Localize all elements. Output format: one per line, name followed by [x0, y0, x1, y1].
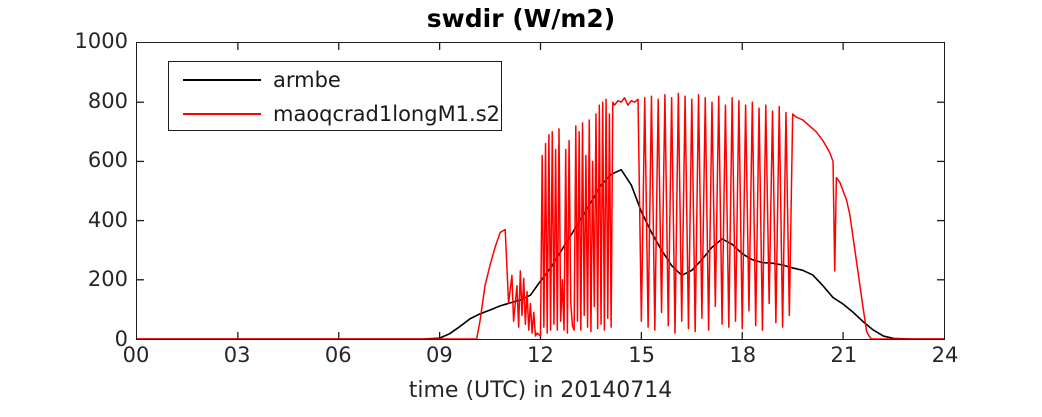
legend-label: armbe — [273, 70, 341, 91]
chart-title: swdir (W/m2) — [0, 4, 1042, 33]
legend-entry[interactable]: armbe — [169, 63, 501, 97]
x-axis-label: time (UTC) in 20140714 — [136, 378, 945, 403]
y-tick-label: 400 — [8, 210, 128, 231]
legend-line-swatch — [183, 79, 261, 81]
legend-label: maoqcrad1longM1.s2 — [273, 104, 500, 125]
x-tick-label: 12 — [501, 345, 581, 366]
legend-line-swatch — [183, 113, 261, 115]
x-tick-label: 06 — [298, 345, 378, 366]
y-tick-label: 200 — [8, 269, 128, 290]
y-tick-label: 1000 — [8, 31, 128, 52]
y-tick-label: 800 — [8, 91, 128, 112]
x-tick-label: 21 — [804, 345, 884, 366]
x-tick-label: 24 — [905, 345, 985, 366]
x-tick-label: 15 — [602, 345, 682, 366]
chart-figure: swdir (W/m2) 02004006008001000 000306091… — [0, 0, 1042, 417]
x-tick-label: 09 — [399, 345, 479, 366]
x-tick-label: 18 — [703, 345, 783, 366]
y-axis-tick-labels: 02004006008001000 — [0, 42, 128, 340]
x-axis-tick-labels: 000306091215182124 — [136, 345, 945, 375]
y-tick-label: 600 — [8, 150, 128, 171]
legend-entry[interactable]: maoqcrad1longM1.s2 — [169, 97, 501, 131]
chart-legend[interactable]: armbemaoqcrad1longM1.s2 — [168, 61, 502, 131]
x-tick-label: 00 — [96, 345, 176, 366]
x-tick-label: 03 — [197, 345, 277, 366]
